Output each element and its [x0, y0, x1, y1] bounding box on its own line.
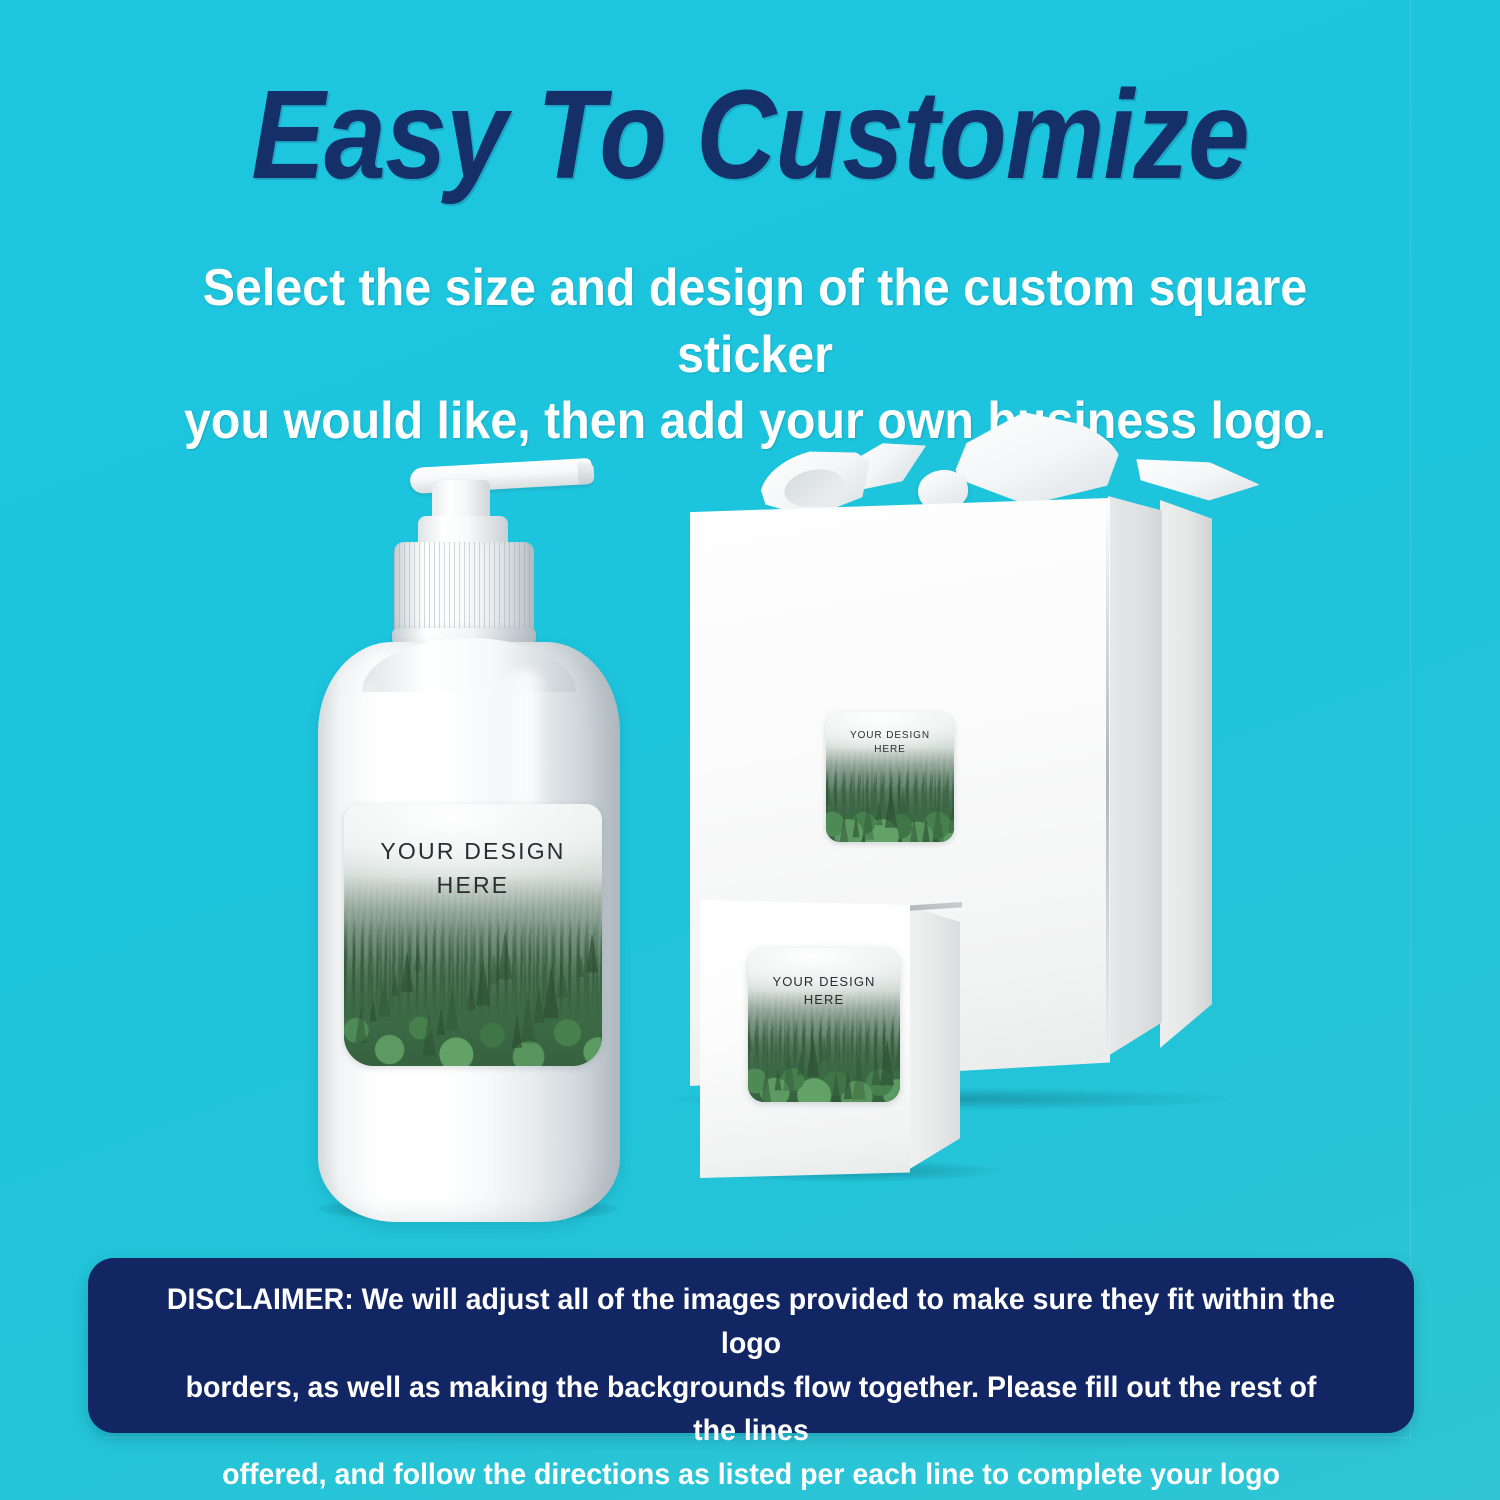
sticker-line-2: HERE: [826, 743, 954, 758]
forest-conifer: [414, 945, 422, 971]
forest-conifer: [774, 1068, 781, 1091]
disclaimer-label: DISCLAIMER:: [167, 1283, 354, 1316]
small-box-sticker: YOUR DESIGN HERE: [748, 948, 900, 1102]
forest-conifer: [829, 1071, 842, 1102]
forest-conifer: [556, 960, 567, 997]
forest-conifer: [356, 1005, 367, 1043]
forest-conifer: [838, 814, 849, 842]
forest-conifer: [949, 803, 954, 833]
disclaimer-box: DISCLAIMER: We will adjust all of the im…: [88, 1258, 1414, 1433]
forest-conifer: [423, 1012, 436, 1055]
forest-conifer: [369, 999, 376, 1022]
product-mockup-scene: YOUR DESIGN HERE YOUR DESIGN: [0, 400, 1500, 1240]
forest-conifer: [806, 1035, 819, 1076]
forest-conifer: [871, 1055, 880, 1085]
ribbon-loop-right: [951, 405, 1128, 514]
forest-artwork: [748, 948, 900, 1102]
forest-conifer: [820, 1035, 828, 1061]
sticker-line-1: YOUR DESIGN: [850, 730, 930, 741]
forest-conifer: [899, 787, 907, 813]
gift-box-seam: [1106, 496, 1109, 1058]
forest-conifer: [843, 1071, 852, 1099]
ribbon-tail-right: [1131, 448, 1262, 509]
forest-conifer: [378, 978, 390, 1018]
forest-conifer: [783, 1051, 795, 1091]
disclaimer-line-3: offered, and follow the directions as li…: [161, 1453, 1341, 1500]
forest-conifer: [876, 801, 883, 825]
disclaimer-line-2: borders, as well as making the backgroun…: [161, 1366, 1341, 1454]
pump-bottle-mockup: YOUR DESIGN HERE: [300, 420, 640, 1220]
disclaimer-text: DISCLAIMER: We will adjust all of the im…: [161, 1278, 1341, 1500]
forest-conifer: [852, 815, 859, 838]
sticker-line-2: HERE: [344, 869, 602, 902]
small-box-side-panel: [908, 906, 960, 1170]
forest-conifer: [467, 980, 476, 1010]
forest-conifer: [797, 1051, 804, 1075]
sticker-placeholder-text: YOUR DESIGN HERE: [344, 835, 602, 902]
forest-conifer: [437, 1007, 446, 1035]
sticker-line-2: HERE: [748, 991, 900, 1010]
small-box-top-edge: [906, 902, 962, 911]
forest-conifer: [931, 802, 945, 842]
sticker-placeholder-text: YOUR DESIGN HERE: [826, 729, 954, 758]
subtitle-line-1: Select the size and design of the custom…: [203, 259, 1307, 384]
forest-conifer: [748, 1031, 753, 1052]
forest-conifer: [445, 985, 459, 1030]
forest-conifer: [760, 1068, 771, 1102]
gift-box-sticker: YOUR DESIGN HERE: [826, 712, 954, 842]
forest-conifer: [392, 972, 399, 996]
forest-conifer: [498, 931, 513, 980]
bottle-ribbed-cap: [394, 542, 534, 637]
page-title: Easy To Customize: [90, 72, 1410, 198]
forest-conifer: [475, 958, 489, 1005]
forest-conifer: [586, 933, 598, 972]
forest-conifer: [852, 1055, 866, 1100]
disclaimer-line-1: DISCLAIMER: We will adjust all of the im…: [161, 1278, 1341, 1366]
forest-conifer: [826, 784, 832, 805]
sticker-line-1: YOUR DESIGN: [380, 838, 565, 864]
gift-box-outer-flap: [1160, 500, 1212, 1048]
forest-conifer: [885, 786, 898, 827]
promo-banner: Easy To Customize Select the size and de…: [0, 0, 1500, 1500]
small-box-mockup: YOUR DESIGN HERE: [700, 892, 1000, 1192]
forest-conifer: [862, 800, 874, 840]
forest-conifer: [600, 1017, 602, 1041]
gift-box-side-panel: [1108, 496, 1162, 1056]
bottle-label-sticker: YOUR DESIGN HERE: [344, 804, 602, 1066]
forest-conifer: [922, 817, 931, 842]
forest-conifer: [894, 1038, 900, 1070]
forest-conifer: [578, 955, 585, 977]
forest-conifer: [908, 816, 921, 842]
forest-conifer: [401, 950, 414, 991]
forest-conifer: [880, 1038, 894, 1085]
sticker-line-1: YOUR DESIGN: [772, 974, 875, 989]
disclaimer-line-1-rest: We will adjust all of the images provide…: [354, 1283, 1335, 1360]
sticker-placeholder-text: YOUR DESIGN HERE: [748, 973, 900, 1011]
